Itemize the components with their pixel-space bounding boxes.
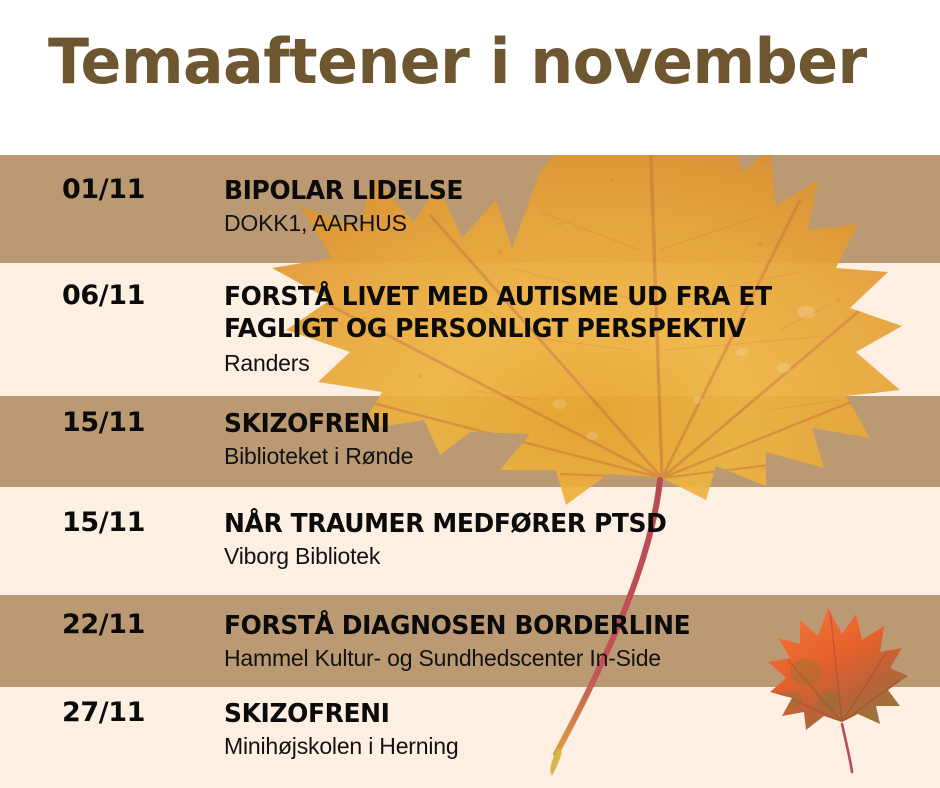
band-row-2 xyxy=(0,263,940,396)
band-row-3 xyxy=(0,396,940,487)
title-bar: Temaaftener i november xyxy=(0,0,940,155)
band-row-5 xyxy=(0,595,940,687)
page-title: Temaaftener i november xyxy=(48,26,867,98)
band-row-6 xyxy=(0,687,940,788)
poster-canvas: 01/11 BIPOLAR LIDELSE DOKK1, AARHUS 06/1… xyxy=(0,0,940,788)
band-row-4 xyxy=(0,487,940,595)
band-row-1 xyxy=(0,155,940,263)
